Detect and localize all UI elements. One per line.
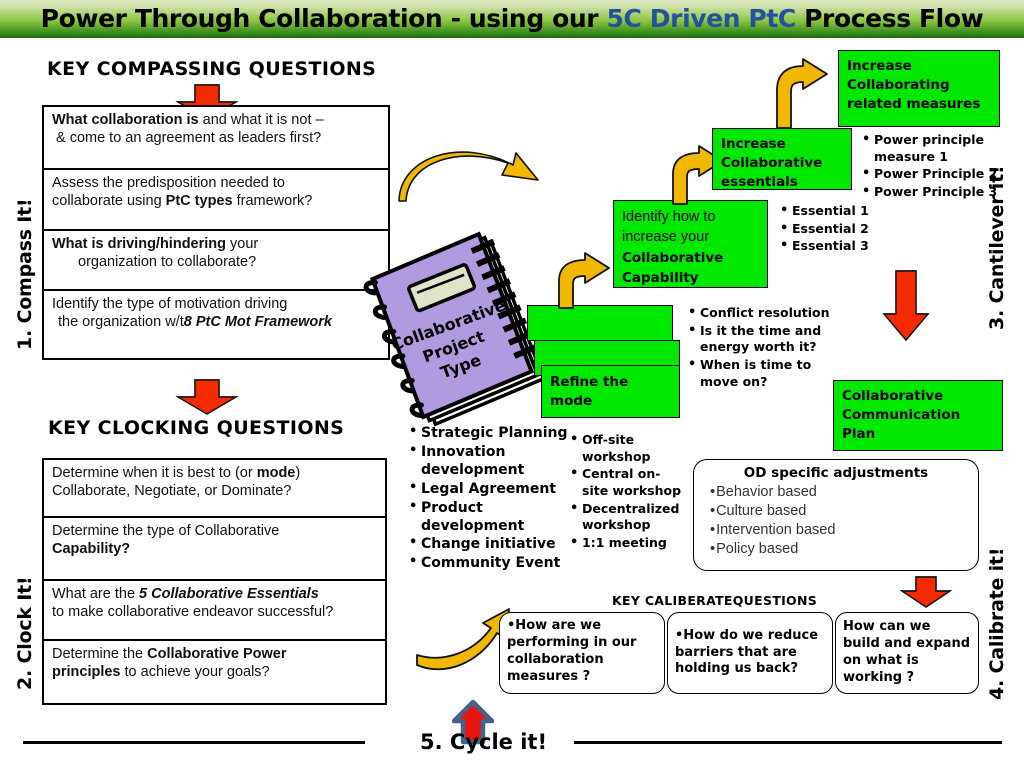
title-banner: Power Through Collaboration - using our … <box>0 0 1024 38</box>
list-item: Decentralized workshop <box>570 501 682 534</box>
compass-q1-lead: What collaboration is <box>52 112 199 128</box>
calibrate-card-1: •How are we performing in our collaborat… <box>499 612 665 694</box>
mode-notes-list: Conflict resolution Is it the time and e… <box>688 305 838 391</box>
compass-question-1: What collaboration is and what it is not… <box>44 107 388 170</box>
od-adjustments-box: OD specific adjustments Behavior based C… <box>693 459 979 571</box>
list-item: Power Principle 3 <box>862 184 1002 201</box>
calibrate-questions-heading: KEY CALIBERATEQUESTIONS <box>612 593 817 608</box>
communication-plan-box: Collaborative Communication Plan <box>833 380 1003 451</box>
clock-q4-line2-post: to achieve your goals? <box>121 664 270 680</box>
list-item: Product development <box>409 500 569 536</box>
clock-question-2: Determine the type of Collaborative Capa… <box>44 518 385 581</box>
list-item: Essential 2 <box>780 221 910 238</box>
list-item: Off-site workshop <box>570 432 682 465</box>
list-item: Conflict resolution <box>688 305 838 322</box>
list-item: Is it the time and energy worth it? <box>688 323 838 356</box>
compass-q2-line2-post: framework? <box>233 193 313 209</box>
compass-q2-line2-bold: PtC types <box>166 193 233 209</box>
slide-canvas: Power Through Collaboration - using our … <box>0 0 1024 768</box>
stage-label-calibrate: 4. Calibrate it! <box>986 548 1008 700</box>
cantilever-step2-box: Increase Collaborative essentials <box>712 128 852 190</box>
clock-q4-line1-pre: Determine the <box>52 646 147 662</box>
clock-question-4: Determine the Collaborative Power princi… <box>44 641 385 703</box>
refine-the-mode-label: Refine the mode <box>550 373 671 411</box>
collaborative-project-type-notebook: Collaborative Project Type <box>362 250 540 435</box>
compass-q1-rest: and what it is not – <box>199 112 324 128</box>
cantilever-step2-line2: Collaborative <box>721 155 822 171</box>
compass-q4-line2-italic: 8 PtC Mot Framework <box>184 314 332 330</box>
communication-plan-line2: Communication Plan <box>842 406 994 444</box>
compass-question-2: Assess the predisposition needed to coll… <box>44 170 388 231</box>
cantilever-step3-line2: Collaborating <box>847 77 950 93</box>
clock-q3-line1-pre: What are the <box>52 586 139 602</box>
clock-q2-line1: Determine the type of Collaborative <box>52 523 279 539</box>
compass-q2-line1: Assess the predisposition needed to <box>52 175 285 191</box>
calibrate-card-3: How can we build and expand on what is w… <box>835 612 979 694</box>
red-down-arrow-cantilever <box>882 270 930 342</box>
compass-q4-line1: Identify the type of motivation driving <box>52 296 287 312</box>
cantilever-step3-line3: related measures <box>847 96 980 112</box>
list-item: Strategic Planning <box>409 425 569 443</box>
clock-q4-line2-bold: principles <box>52 664 121 680</box>
project-types-list: Strategic Planning Innovation developmen… <box>409 425 569 574</box>
clock-q1-line1-post: ) <box>295 465 300 481</box>
calibrate-card-2: •How do we reduce barriers that are hold… <box>667 612 833 694</box>
list-item: Culture based <box>710 502 968 521</box>
yellow-bent-arrow-3 <box>551 255 613 310</box>
list-item: Policy based <box>710 540 968 559</box>
list-item: Power principle measure 1 <box>862 132 1002 165</box>
list-item: Essential 3 <box>780 238 910 255</box>
communication-plan-line1: Collaborative <box>842 387 994 406</box>
red-down-arrow-clock <box>176 379 238 415</box>
cantilever-step2-line3: essentials <box>721 174 798 190</box>
clock-q3-line2: to make collaborative endeavor successfu… <box>52 604 333 620</box>
yellow-curved-arrow-top <box>398 145 548 205</box>
cantilever-step2-line1: Increase <box>721 136 786 152</box>
clock-q1-line1-bold: mode <box>257 465 296 481</box>
cantilever-step3-line1: Increase <box>847 58 912 74</box>
compass-question-4: Identify the type of motivation driving … <box>44 291 388 357</box>
list-item: Community Event <box>409 555 569 573</box>
list-item: Intervention based <box>710 521 968 540</box>
compass-q2-line2-pre: collaborate using <box>52 193 166 209</box>
compass-q3-lead: What is driving/hindering <box>52 236 226 252</box>
od-adjustments-title: OD specific adjustments <box>704 465 968 481</box>
refine-the-mode-box: Refine the mode <box>541 365 680 418</box>
list-item: Change initiative <box>409 536 569 554</box>
list-item: Power Principle 2 <box>862 166 1002 183</box>
title-part-2: Process Flow <box>796 4 984 33</box>
cantilever-step1-box: Identify how to increase your Collaborat… <box>613 200 768 288</box>
mode-stack-box-back <box>527 305 673 341</box>
clocking-questions-box: Determine when it is best to (or mode) C… <box>42 458 387 705</box>
clock-q1-line2: Collaborate, Negotiate, or Dominate? <box>52 483 291 499</box>
clock-q3-line1-italic: 5 Collaborative Essentials <box>139 586 319 602</box>
clock-q1-line1-pre: Determine when it is best to (or <box>52 465 257 481</box>
clock-question-1: Determine when it is best to (or mode) C… <box>44 460 385 518</box>
clock-q4-line1-bold: Collaborative Power <box>147 646 286 662</box>
stage-label-clock: 2. Clock It! <box>14 577 36 691</box>
divider-line-left <box>23 741 365 744</box>
title-part-1: Power Through Collaboration - using our <box>41 4 607 33</box>
clocking-questions-heading: KEY CLOCKING QUESTIONS <box>48 417 344 439</box>
compass-q4-line2-pre: the organization w/t <box>52 313 184 331</box>
meeting-formats-list: Off-site workshop Central on-site worksh… <box>570 432 682 552</box>
compass-q1-line2: & come to an agreement as leaders first? <box>52 129 321 147</box>
stage-label-cycle: 5. Cycle it! <box>420 730 547 754</box>
cantilever-step3-box: Increase Collaborating related measures <box>838 50 1000 127</box>
list-item: When is time to move on? <box>688 357 838 390</box>
cantilever-step1-line2: increase your <box>622 229 709 245</box>
compass-question-3: What is driving/hindering your organizat… <box>44 231 388 291</box>
compassing-questions-heading: KEY COMPASSING QUESTIONS <box>47 58 376 80</box>
list-item: 1:1 meeting <box>570 535 682 552</box>
list-item: Essential 1 <box>780 203 910 220</box>
compass-q3-line2: organization to collaborate? <box>52 253 256 271</box>
cantilever-step1-line1: Identify how to <box>622 209 716 225</box>
clock-q2-line2-bold: Capability? <box>52 541 130 557</box>
list-item: Legal Agreement <box>409 481 569 499</box>
compass-q3-rest: your <box>226 236 258 252</box>
compassing-questions-box: What collaboration is and what it is not… <box>42 105 390 360</box>
list-item: Central on-site workshop <box>570 466 682 499</box>
clock-question-3: What are the 5 Collaborative Essentials … <box>44 581 385 641</box>
essentials-list: Essential 1 Essential 2 Essential 3 <box>780 203 910 256</box>
red-down-arrow-calibrate <box>900 576 952 608</box>
od-adjustments-list: Behavior based Culture based Interventio… <box>704 483 968 560</box>
list-item: Behavior based <box>710 483 968 502</box>
divider-line-right <box>574 741 1002 744</box>
cantilever-step1-bold1: Collaborative <box>622 250 723 266</box>
page-title: Power Through Collaboration - using our … <box>41 6 984 33</box>
cantilever-step1-bold2: Capability <box>622 270 699 286</box>
yellow-bent-arrow-2 <box>769 60 831 130</box>
list-item: Innovation development <box>409 444 569 480</box>
power-principles-list: Power principle measure 1 Power Principl… <box>862 132 1002 202</box>
stage-label-compass: 1. Compass It! <box>14 198 36 350</box>
title-accent: 5C Driven PtC <box>607 4 796 33</box>
